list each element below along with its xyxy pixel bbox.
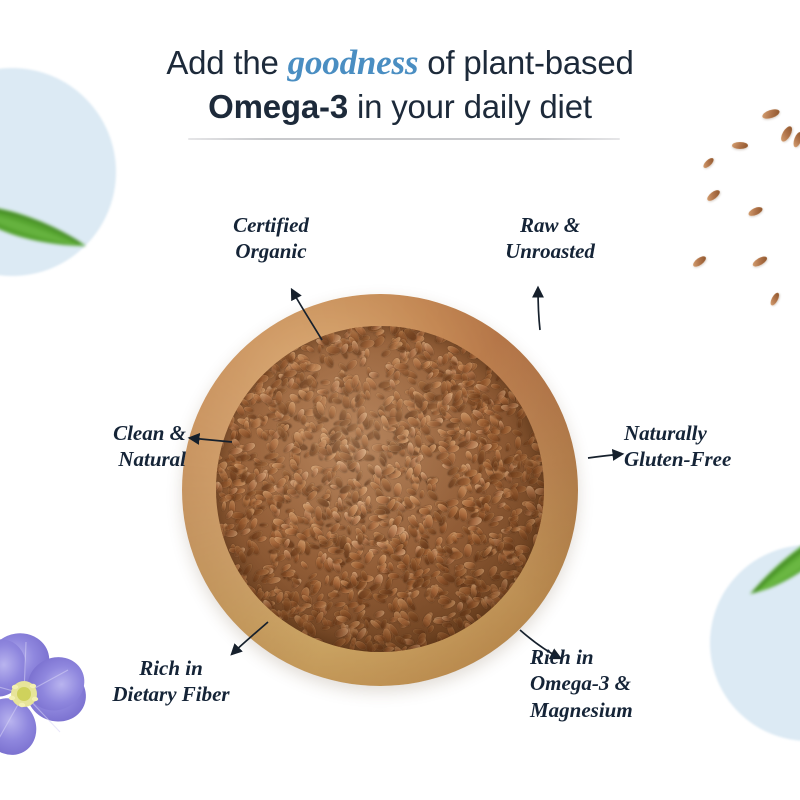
headline-line1-after: of plant-based bbox=[418, 44, 633, 81]
feature-label-raw-unroasted: Raw & Unroasted bbox=[452, 212, 648, 265]
feature-line-1: Naturally bbox=[624, 420, 800, 446]
feature-line-2: Natural bbox=[18, 446, 186, 472]
feature-label-clean-natural: Clean & Natural bbox=[18, 420, 186, 473]
leaf-icon-bottom-right bbox=[742, 520, 800, 600]
headline-line1-before: Add the bbox=[166, 44, 287, 81]
feature-line-2: Unroasted bbox=[452, 238, 648, 264]
feature-line-2: Dietary Fiber bbox=[62, 681, 280, 707]
feature-line-1: Rich in bbox=[62, 655, 280, 681]
feature-line-1: Rich in bbox=[530, 644, 716, 670]
feature-label-rich-in-omega-3-magnesium: Rich in Omega-3 & Magnesium bbox=[530, 644, 716, 723]
feature-line-1: Certified bbox=[178, 212, 364, 238]
bowl-interior bbox=[216, 326, 544, 652]
flax-seed-bowl-image bbox=[182, 294, 578, 686]
headline-line2-rest: in your daily diet bbox=[348, 88, 592, 125]
feature-line-1: Raw & bbox=[452, 212, 648, 238]
seed-pile bbox=[216, 326, 544, 652]
poster-canvas: Add the goodness of plant-based Omega-3 … bbox=[0, 0, 800, 800]
feature-line-3: Magnesium bbox=[530, 697, 716, 723]
feature-label-rich-in-dietary-fiber: Rich in Dietary Fiber bbox=[62, 655, 280, 708]
feature-line-2: Omega-3 & bbox=[530, 670, 716, 696]
headline-strong-word: Omega-3 bbox=[208, 88, 348, 125]
title-divider bbox=[188, 138, 620, 140]
feature-label-naturally-gluten-free: Naturally Gluten-Free bbox=[624, 420, 800, 473]
feature-label-certified-organic: Certified Organic bbox=[178, 212, 364, 265]
page-title: Add the goodness of plant-based Omega-3 … bbox=[0, 40, 800, 128]
headline-accent-word: goodness bbox=[288, 43, 419, 82]
feature-line-2: Organic bbox=[178, 238, 364, 264]
feature-line-1: Clean & bbox=[18, 420, 186, 446]
leaf-icon-top-left bbox=[0, 196, 90, 252]
feature-line-2: Gluten-Free bbox=[624, 446, 800, 472]
scattered-flax-seeds bbox=[690, 100, 800, 272]
